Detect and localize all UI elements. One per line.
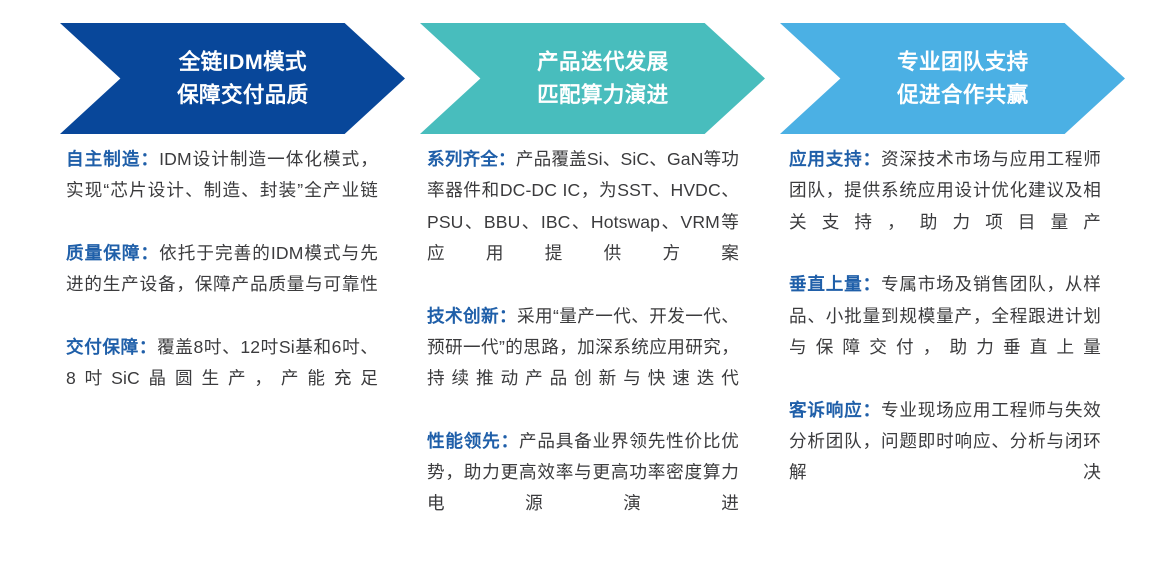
chevron-title-line-1: 专业团队支持	[897, 46, 1028, 79]
chevron-banner-row: 全链IDM模式 保障交付品质 产品迭代发展 匹配算力演进 专业团队支持 促进合作…	[0, 0, 1164, 138]
content-columns: 自主制造：IDM设计制造一体化模式，实现“芯片设计、制造、封装”全产业链 质量保…	[0, 138, 1164, 575]
chevron-title-2: 产品迭代发展 匹配算力演进	[537, 46, 668, 111]
feature-paragraph: 技术创新：采用“量产一代、开发一代、预研一代”的思路，加深系统应用研究，持续推动…	[427, 301, 739, 426]
chevron-title-1: 全链IDM模式 保障交付品质	[177, 46, 308, 111]
content-column-2: 系列齐全：产品覆盖Si、SiC、GaN等功率器件和DC-DC IC，为SST、H…	[427, 144, 739, 551]
feature-paragraph: 客诉响应：专业现场应用工程师与失效分析团队，问题即时响应、分析与闭环解决	[789, 395, 1101, 520]
feature-label: 质量保障：	[66, 243, 159, 263]
chevron-banner-2: 产品迭代发展 匹配算力演进	[420, 23, 765, 134]
chevron-title-line-1: 全链IDM模式	[177, 46, 308, 79]
chevron-title-line-2: 促进合作共赢	[897, 79, 1028, 112]
chevron-title-3: 专业团队支持 促进合作共赢	[897, 46, 1028, 111]
feature-label: 交付保障：	[66, 337, 157, 357]
chevron-title-line-2: 匹配算力演进	[537, 79, 668, 112]
feature-label: 垂直上量：	[789, 274, 881, 294]
chevron-banner-1: 全链IDM模式 保障交付品质	[60, 23, 405, 134]
feature-paragraph: 系列齐全：产品覆盖Si、SiC、GaN等功率器件和DC-DC IC，为SST、H…	[427, 144, 739, 301]
feature-label: 应用支持：	[789, 149, 881, 169]
feature-label: 系列齐全：	[427, 149, 516, 169]
feature-label: 性能领先：	[427, 431, 519, 451]
infographic-canvas: 全链IDM模式 保障交付品质 产品迭代发展 匹配算力演进 专业团队支持 促进合作…	[0, 0, 1164, 575]
chevron-banner-3: 专业团队支持 促进合作共赢	[780, 23, 1125, 134]
feature-paragraph: 应用支持：资深技术市场与应用工程师团队，提供系统应用设计优化建议及相关支持，助力…	[789, 144, 1101, 269]
feature-paragraph: 自主制造：IDM设计制造一体化模式，实现“芯片设计、制造、封装”全产业链	[66, 144, 378, 238]
feature-paragraph: 性能领先：产品具备业界领先性价比优势，助力更高效率与更高功率密度算力电源演进	[427, 426, 739, 551]
feature-label: 自主制造：	[66, 149, 159, 169]
chevron-title-line-1: 产品迭代发展	[537, 46, 668, 79]
content-column-3: 应用支持：资深技术市场与应用工程师团队，提供系统应用设计优化建议及相关支持，助力…	[789, 144, 1101, 520]
feature-label: 技术创新：	[427, 306, 517, 326]
chevron-title-line-2: 保障交付品质	[177, 79, 308, 112]
feature-label: 客诉响应：	[789, 400, 881, 420]
feature-paragraph: 交付保障：覆盖8吋、12吋Si基和6吋、8吋SiC晶圆生产，产能充足	[66, 332, 378, 426]
feature-paragraph: 质量保障：依托于完善的IDM模式与先进的生产设备，保障产品质量与可靠性	[66, 238, 378, 332]
content-column-1: 自主制造：IDM设计制造一体化模式，实现“芯片设计、制造、封装”全产业链 质量保…	[66, 144, 378, 426]
feature-paragraph: 垂直上量：专属市场及销售团队，从样品、小批量到规模量产，全程跟进计划与保障交付，…	[789, 269, 1101, 394]
